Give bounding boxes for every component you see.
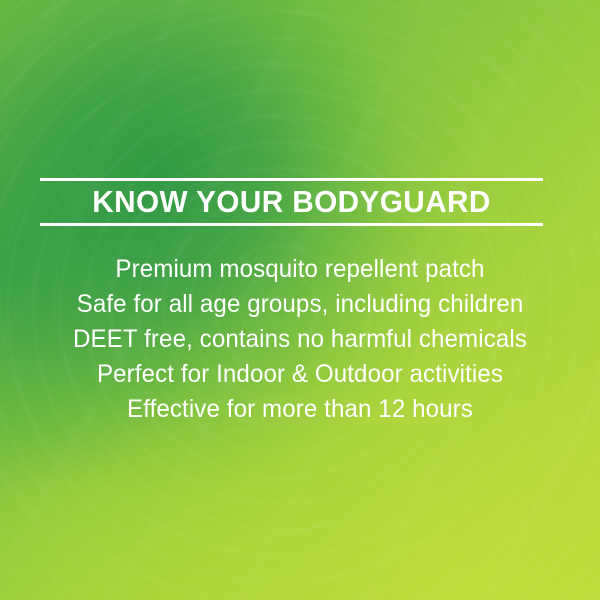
list-item: Safe for all age groups, including child… [11,287,590,322]
list-item: Perfect for Indoor & Outdoor activities [11,357,590,392]
feature-list: Premium mosquito repellent patch Safe fo… [0,252,600,427]
banner-content: KNOW YOUR BODYGUARD Premium mosquito rep… [0,0,600,600]
heading-rule-bottom [40,223,543,226]
list-item: Premium mosquito repellent patch [11,252,590,287]
promo-banner: KNOW YOUR BODYGUARD Premium mosquito rep… [0,0,600,600]
page-title: KNOW YOUR BODYGUARD [50,181,533,223]
heading-block: KNOW YOUR BODYGUARD [40,178,543,226]
list-item: Effective for more than 12 hours [11,392,590,427]
list-item: DEET free, contains no harmful chemicals [11,322,590,357]
